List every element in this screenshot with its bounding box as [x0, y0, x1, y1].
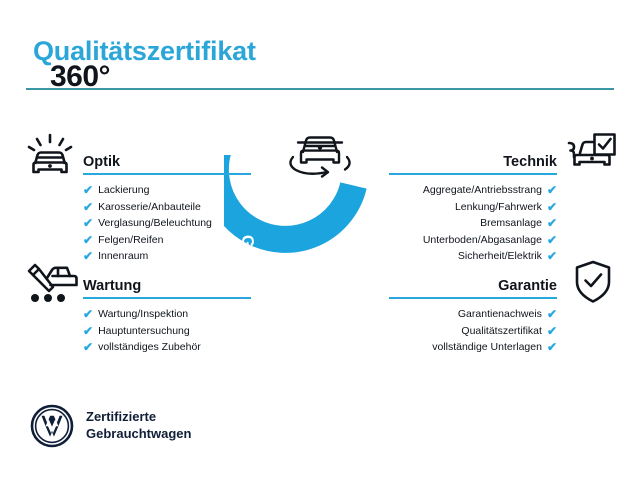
page-title: Qualitätszertifikat	[33, 36, 256, 67]
check-icon: ✔	[547, 184, 557, 196]
footer-line-1: Zertifizierte	[86, 409, 156, 424]
footer-brand-text: ZertifizierteGebrauchtwagen	[86, 409, 191, 442]
check-icon: ✔	[83, 341, 93, 353]
section-header-garantie: Garantie	[389, 270, 557, 296]
badge-center-label: 360°	[0, 0, 160, 160]
section-title-technik: Technik	[503, 154, 557, 170]
checklist-item: ✔Karosserie/Anbauteile	[83, 199, 251, 216]
section-divider-wartung	[83, 297, 251, 299]
checklist-item-label: Felgen/Reifen	[98, 235, 163, 246]
check-icon: ✔	[83, 184, 93, 196]
checklist-item-label: Innenraum	[98, 251, 148, 262]
section-technik: TechnikAggregate/Antriebsstrang✔Lenkung/…	[389, 146, 557, 265]
check-icon: ✔	[83, 217, 93, 229]
car-checkbox-icon	[566, 131, 618, 180]
checklist-item-label: Verglasung/Beleuchtung	[98, 218, 212, 229]
section-divider-technik	[389, 173, 557, 175]
checklist-item-label: vollständige Unterlagen	[432, 342, 542, 353]
section-garantie: GarantieGarantienachweis✔Qualitätszertif…	[389, 270, 557, 356]
checklist-item-label: Bremsanlage	[480, 218, 542, 229]
section-title-garantie: Garantie	[498, 278, 557, 294]
car-rotation-360-icon	[281, 126, 359, 182]
check-icon: ✔	[547, 250, 557, 262]
section-title-optik: Optik	[83, 154, 120, 170]
checklist-item-label: Sicherheit/Elektrik	[458, 251, 542, 262]
section-header-technik: Technik	[389, 146, 557, 172]
checklist-item-label: Lenkung/Fahrwerk	[455, 202, 542, 213]
checklist-item: ✔Lackierung	[83, 182, 251, 199]
qualitaetszertifikat-page: Qualitätszertifikat	[0, 0, 640, 480]
checklist-item: Sicherheit/Elektrik✔	[389, 248, 557, 265]
section-title-wartung: Wartung	[83, 278, 141, 294]
check-icon: ✔	[547, 341, 557, 353]
check-icon: ✔	[547, 325, 557, 337]
checklist-item: ✔Verglasung/Beleuchtung	[83, 215, 251, 232]
checklist-item-label: vollständiges Zubehör	[98, 342, 201, 353]
checklist-wartung: ✔Wartung/Inspektion✔Hauptuntersuchung✔vo…	[83, 306, 251, 356]
footer-line-2: Gebrauchtwagen	[86, 426, 191, 441]
check-icon: ✔	[83, 234, 93, 246]
checklist-item-label: Aggregate/Antriebsstrang	[423, 185, 542, 196]
section-divider-garantie	[389, 297, 557, 299]
checklist-item: Bremsanlage✔	[389, 215, 557, 232]
check-icon: ✔	[83, 325, 93, 337]
checklist-item-label: Hauptuntersuchung	[98, 326, 190, 337]
checklist-item-label: Garantienachweis	[458, 309, 542, 320]
check-icon: ✔	[547, 201, 557, 213]
checklist-item-label: Lackierung	[98, 185, 149, 196]
checklist-optik: ✔Lackierung✔Karosserie/Anbauteile✔Vergla…	[83, 182, 251, 265]
check-icon: ✔	[547, 308, 557, 320]
check-icon: ✔	[547, 217, 557, 229]
section-header-optik: Optik	[83, 146, 251, 172]
checklist-item: Lenkung/Fahrwerk✔	[389, 199, 557, 216]
section-header-wartung: Wartung	[83, 270, 251, 296]
checklist-item-label: Karosserie/Anbauteile	[98, 202, 201, 213]
checklist-item: ✔Wartung/Inspektion	[83, 306, 251, 323]
checklist-garantie: Garantienachweis✔Qualitätszertifikat✔vol…	[389, 306, 557, 356]
checklist-item: vollständige Unterlagen✔	[389, 339, 557, 356]
volkswagen-logo	[30, 404, 74, 448]
checklist-item-label: Unterboden/Abgasanlage	[423, 235, 542, 246]
check-icon: ✔	[83, 201, 93, 213]
shield-check-icon	[573, 259, 613, 310]
checklist-item: ✔Hauptuntersuchung	[83, 323, 251, 340]
check-icon: ✔	[547, 234, 557, 246]
footer-brand: ZertifizierteGebrauchtwagen	[30, 404, 191, 448]
section-divider-optik	[83, 173, 251, 175]
checklist-item: ✔Felgen/Reifen	[83, 232, 251, 249]
checklist-item-label: Qualitätszertifikat	[461, 326, 542, 337]
checklist-item: ✔vollständiges Zubehör	[83, 339, 251, 356]
checklist-item: Garantienachweis✔	[389, 306, 557, 323]
checklist-item: ✔Innenraum	[83, 248, 251, 265]
checklist-item: Qualitätszertifikat✔	[389, 323, 557, 340]
check-icon: ✔	[83, 308, 93, 320]
check-icon: ✔	[83, 250, 93, 262]
section-wartung: Wartung✔Wartung/Inspektion✔Hauptuntersuc…	[83, 270, 251, 356]
checklist-item: Aggregate/Antriebsstrang✔	[389, 182, 557, 199]
checklist-technik: Aggregate/Antriebsstrang✔Lenkung/Fahrwer…	[389, 182, 557, 265]
title-divider	[26, 88, 614, 90]
car-service-tool-icon	[25, 258, 80, 309]
checklist-item-label: Wartung/Inspektion	[98, 309, 188, 320]
car-shine-icon	[25, 133, 75, 184]
section-optik: Optik✔Lackierung✔Karosserie/Anbauteile✔V…	[83, 146, 251, 265]
checklist-item: Unterboden/Abgasanlage✔	[389, 232, 557, 249]
